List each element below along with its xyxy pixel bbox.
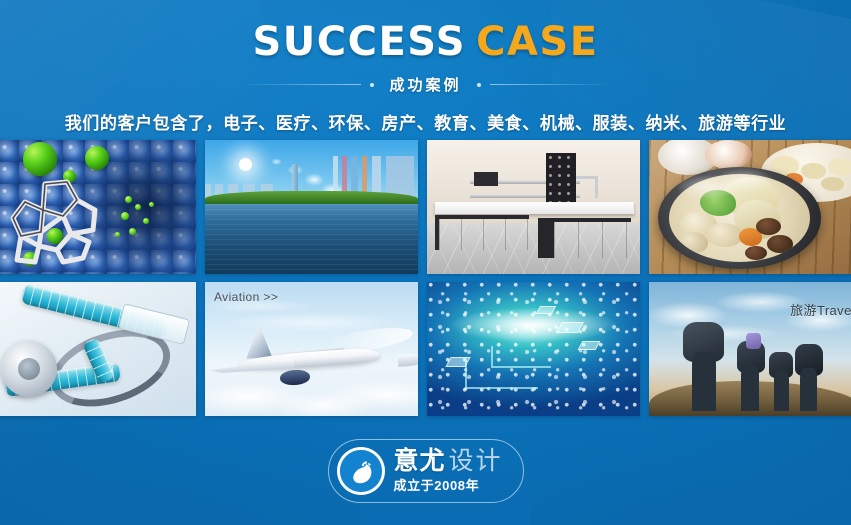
steam — [674, 163, 788, 204]
page-title: SUCCESSCASE — [0, 22, 851, 62]
nanotech-image — [0, 140, 196, 274]
fullerene-molecule — [5, 162, 113, 270]
stethoscope-chestpiece — [1, 341, 57, 397]
case-tile-electronics[interactable] — [427, 282, 640, 416]
title-word-case: CASE — [476, 19, 598, 65]
environment-image — [205, 140, 418, 274]
green-cluster-c — [121, 212, 129, 220]
divider-dot-right — [477, 83, 481, 87]
plate-chicken-2 — [828, 158, 851, 176]
hiker-3 — [774, 370, 789, 410]
banner-header: SUCCESSCASE 成功案例 我们的客户包含了，电子、医疗、环保、房产、教育… — [0, 0, 851, 134]
green-cluster-e — [129, 228, 136, 235]
shiitake-1 — [756, 218, 781, 236]
lab-bench-top — [435, 202, 635, 214]
case-tile-nanotech[interactable] — [0, 140, 196, 274]
industries-description: 我们的客户包含了，电子、医疗、环保、房产、教育、美食、机械、服装、纳米、旅游等行… — [0, 109, 851, 134]
chicken-piece-2 — [706, 223, 743, 248]
lab-monitor — [474, 172, 498, 186]
subtitle-divider-row: 成功案例 — [0, 74, 851, 95]
case-tile-medical[interactable] — [0, 282, 196, 416]
logo-tagline: 成立于2008年 — [393, 475, 479, 494]
hot-pot — [658, 167, 821, 269]
hiker-1 — [692, 352, 716, 411]
green-cluster-g — [149, 202, 154, 207]
divider-line-left — [243, 84, 361, 85]
sleeping-mat — [746, 333, 761, 349]
green-cluster-d — [143, 218, 149, 224]
success-case-banner: SUCCESSCASE 成功案例 我们的客户包含了，电子、医疗、环保、房产、教育… — [0, 0, 851, 525]
food-image — [649, 140, 851, 274]
laboratory-image — [427, 140, 640, 274]
medical-image — [0, 282, 196, 416]
lab-faucet — [576, 176, 598, 179]
case-tile-food[interactable] — [649, 140, 851, 274]
lab-cabinet-left — [435, 215, 529, 250]
airplane-nose — [398, 353, 418, 367]
travel-caption: 旅游Travel — [790, 300, 851, 319]
case-gallery-grid: Aviation >> — [0, 140, 851, 416]
divider-dot-left — [370, 83, 374, 87]
logo-name-secondary: 设计 — [449, 447, 503, 475]
shiitake-3 — [745, 246, 767, 260]
subtitle-chinese: 成功案例 — [383, 74, 467, 95]
case-tile-aviation[interactable]: Aviation >> — [205, 282, 418, 416]
aviation-caption: Aviation >> — [214, 290, 278, 304]
green-cluster-f — [115, 232, 120, 237]
hiker-2 — [741, 365, 758, 411]
case-tile-environment[interactable] — [205, 140, 418, 274]
chicken-piece-3 — [677, 232, 708, 253]
electronics-image — [427, 282, 640, 416]
hiker-4 — [800, 368, 817, 411]
circuit-trace-2 — [491, 346, 551, 367]
green-cluster-a — [125, 196, 132, 203]
green-cluster-b — [135, 204, 141, 210]
plate-chicken-3 — [821, 177, 843, 191]
logo-bird-icon — [336, 447, 384, 495]
water-surface — [205, 204, 418, 274]
case-tile-travel[interactable]: 旅游Travel — [649, 282, 851, 416]
logo-name: 意尤设计 — [393, 448, 502, 474]
title-word-success: SUCCESS — [252, 19, 466, 65]
logo-text-block: 意尤设计 成立于2008年 — [393, 448, 502, 494]
tree-line — [205, 191, 418, 204]
company-logo[interactable]: 意尤设计 成立于2008年 — [327, 439, 523, 503]
divider-line-right — [490, 84, 608, 85]
plate-chicken — [801, 163, 826, 180]
shiitake-2 — [767, 235, 792, 253]
case-tile-laboratory[interactable] — [427, 140, 640, 274]
lab-cabinet-right — [538, 218, 632, 258]
logo-name-primary: 意尤 — [393, 447, 445, 475]
